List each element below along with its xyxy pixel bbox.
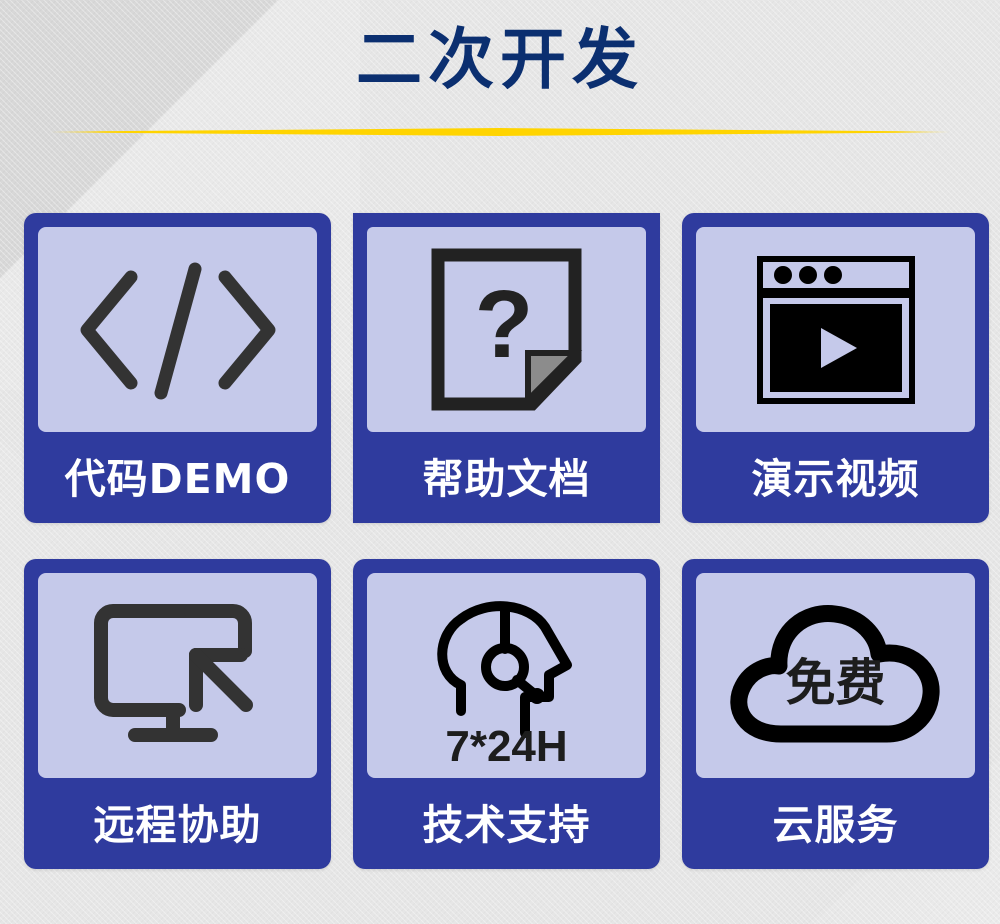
icon-panel — [38, 573, 317, 778]
icon-panel: ? — [367, 227, 646, 432]
icon-panel: 7*24H — [367, 573, 646, 778]
promo-banner: 二次开发 代码DEMO — [0, 0, 1000, 924]
title-divider — [50, 128, 950, 138]
card-label: 云服务 — [696, 778, 975, 869]
card-remote-assist[interactable]: 远程协助 — [24, 559, 331, 869]
card-label: 技术支持 — [367, 778, 646, 869]
card-code-demo[interactable]: 代码DEMO — [24, 213, 331, 523]
card-label: 演示视频 — [696, 432, 975, 523]
icon-panel — [38, 227, 317, 432]
document-question-icon: ? — [424, 247, 589, 412]
svg-text:?: ? — [475, 271, 534, 378]
divider-line — [50, 128, 950, 136]
card-label: 远程协助 — [38, 778, 317, 869]
icon-panel — [696, 227, 975, 432]
cloud-free-text: 免费 — [696, 642, 975, 714]
feature-card-grid: 代码DEMO ? 帮助文档 — [24, 213, 976, 869]
icon-panel: 免费 — [696, 573, 975, 778]
card-help-doc[interactable]: ? 帮助文档 — [353, 213, 660, 523]
video-window-play-icon — [756, 255, 916, 405]
page-title: 二次开发 — [0, 22, 1000, 98]
code-brackets-icon — [73, 255, 283, 405]
header: 二次开发 — [0, 0, 1000, 170]
monitor-cursor-icon — [83, 593, 273, 758]
card-label: 代码DEMO — [38, 432, 317, 523]
support-hours-text: 7*24H — [367, 722, 646, 772]
card-cloud-service[interactable]: 免费 云服务 — [682, 559, 989, 869]
card-tech-support[interactable]: 7*24H 技术支持 — [353, 559, 660, 869]
card-label: 帮助文档 — [367, 432, 646, 523]
card-demo-video[interactable]: 演示视频 — [682, 213, 989, 523]
